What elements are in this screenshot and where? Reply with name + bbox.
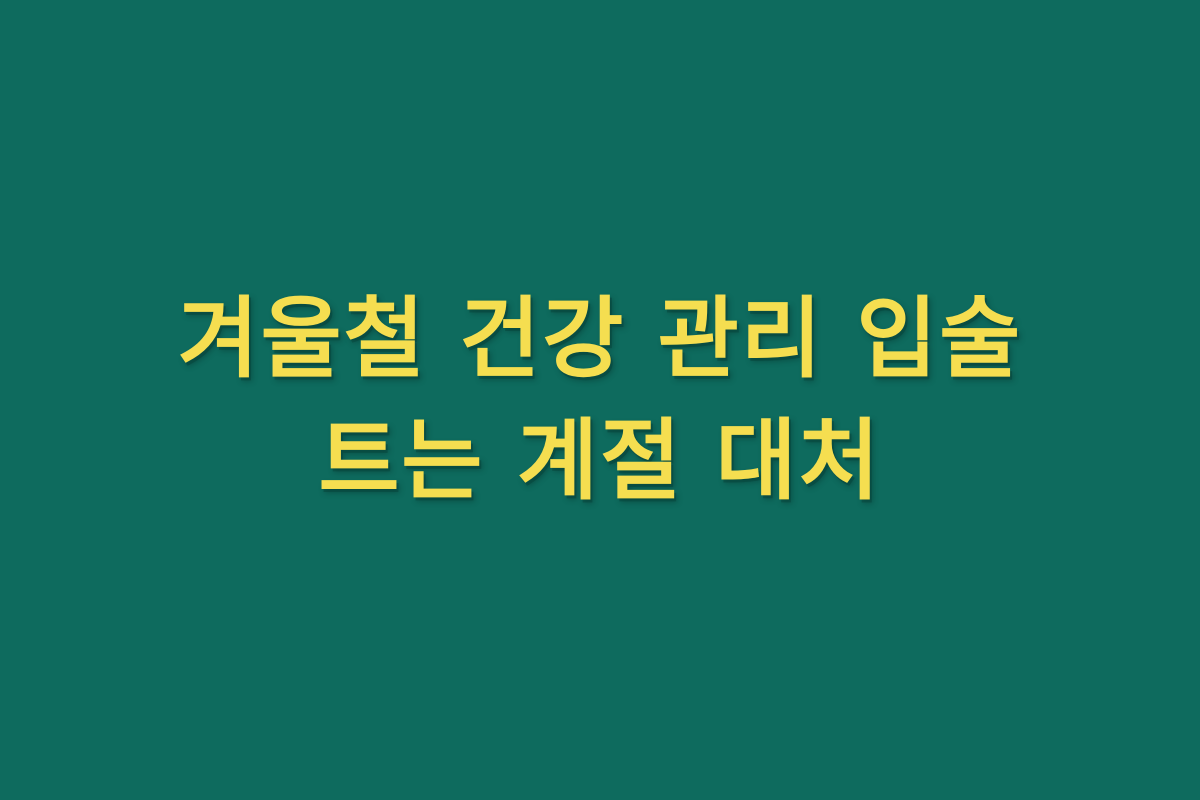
- banner-title-line-1: 겨울철 건강 관리 입술: [0, 289, 1200, 389]
- text-banner: 겨울철 건강 관리 입술 트는 계절 대처: [0, 0, 1200, 800]
- banner-title-line-2: 트는 계절 대처: [0, 411, 1200, 511]
- banner-title-block: 겨울철 건강 관리 입술 트는 계절 대처: [0, 0, 1200, 800]
